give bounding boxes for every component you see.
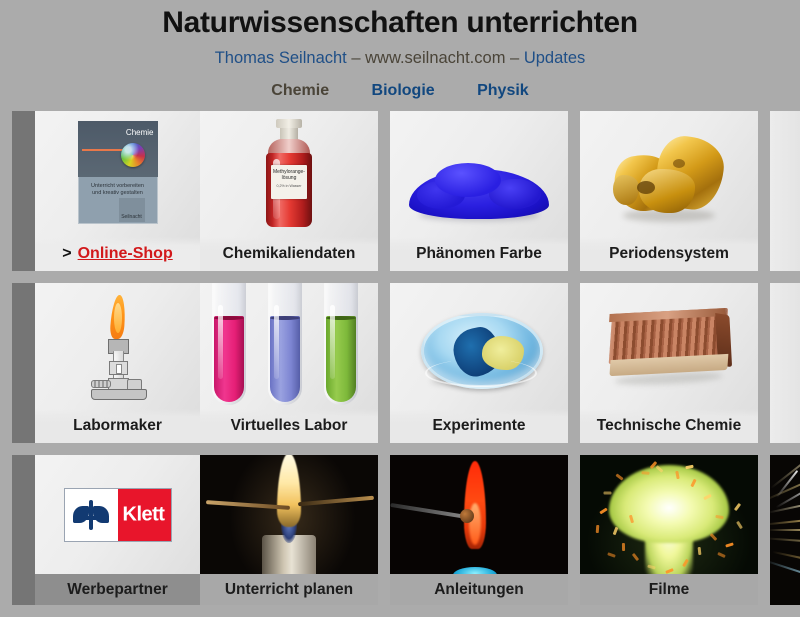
- main-nav: Chemie Biologie Physik: [0, 81, 800, 101]
- test-tube-highlight: [330, 305, 335, 379]
- online-shop-link[interactable]: Online-Shop: [78, 245, 173, 263]
- book-cover-rule: [82, 149, 124, 151]
- row-2-left-edge-strip[interactable]: [12, 283, 35, 443]
- row-3-right-edge-strip[interactable]: [770, 455, 800, 605]
- spark-particle: [641, 471, 649, 475]
- tile-periodensystem[interactable]: Periodensystem: [580, 111, 758, 271]
- row-1-right-edge-strip[interactable]: [770, 111, 800, 271]
- nav-item-chemie[interactable]: Chemie: [271, 82, 329, 99]
- wooden-splint-right: [298, 496, 374, 507]
- klett-wordmark: Klett: [123, 504, 165, 527]
- petri-dish-icon: [421, 313, 537, 391]
- tile-virtuelles-labor[interactable]: Virtuelles Labor: [200, 283, 378, 443]
- tile-grid: Chemie Unterricht vorbereiten und kreati…: [0, 111, 800, 617]
- spark-particle: [615, 473, 623, 480]
- tile-row-3: Klett Werbepartner Unter: [0, 455, 800, 605]
- tile-label[interactable]: Periodensystem: [580, 237, 758, 271]
- spark-particle: [622, 543, 625, 551]
- page-header: Naturwissenschaften unterrichten Thomas …: [0, 0, 800, 101]
- magnesia-rod: [390, 503, 468, 519]
- spark-particle: [656, 465, 664, 473]
- lily-crossbar: [77, 516, 105, 520]
- petri-rim: [425, 359, 537, 387]
- row-2-right-edge-strip[interactable]: [770, 283, 800, 443]
- flame-core: [114, 303, 122, 333]
- light-streak: [770, 529, 800, 531]
- spark-particle: [715, 515, 723, 519]
- tile-label[interactable]: Chemikaliendaten: [200, 237, 378, 271]
- corrugated-copper-icon: [605, 308, 733, 388]
- burner-gas-nozzle: [91, 380, 111, 388]
- book-cover-top: Chemie: [78, 121, 158, 177]
- spark-particle: [682, 559, 689, 567]
- tile-label[interactable]: Labormaker: [35, 409, 200, 443]
- spark-particle: [596, 525, 600, 533]
- tile-werbepartner[interactable]: Klett Werbepartner: [35, 455, 200, 605]
- spark-particle: [607, 552, 616, 558]
- tile-label[interactable]: Phänomen Farbe: [390, 237, 568, 271]
- spark-particle: [613, 527, 619, 536]
- chevron-right-icon: >: [62, 245, 71, 263]
- spark-particle: [698, 547, 702, 555]
- tile-experimente[interactable]: Experimente: [390, 283, 568, 443]
- tile-chemikaliendaten[interactable]: Methylorange- lösung 0,2% in Wasser Chem…: [200, 111, 378, 271]
- lily-stem: [89, 500, 93, 530]
- page-root: Naturwissenschaften unterrichten Thomas …: [0, 0, 800, 600]
- klett-logo: Klett: [65, 489, 171, 541]
- color-sphere-icon: [121, 143, 145, 167]
- book-cover-subtitle: Unterricht vorbereiten und kreativ gesta…: [78, 183, 158, 197]
- spark-particle: [647, 565, 656, 570]
- nav-item-biologie[interactable]: Biologie: [372, 82, 435, 99]
- spark-particle: [710, 533, 718, 541]
- glowing-bead: [460, 509, 474, 523]
- test-tube-highlight: [274, 305, 279, 379]
- lily-right-wing: [93, 506, 109, 523]
- nugget-lobe-4: [613, 175, 639, 205]
- light-streak: [770, 502, 800, 513]
- tile-anleitungen[interactable]: Anleitungen: [390, 455, 568, 605]
- online-shop-label[interactable]: > Online-Shop: [35, 237, 200, 271]
- author-link[interactable]: Thomas Seilnacht: [215, 49, 347, 67]
- tile-labormaker[interactable]: Labormaker: [35, 283, 200, 443]
- spark-particle: [690, 479, 696, 488]
- byline: Thomas Seilnacht – www.seilnacht.com – U…: [0, 47, 800, 69]
- klett-lily-icon: [71, 498, 111, 532]
- flame-core: [469, 503, 481, 545]
- spark-particle: [725, 542, 734, 547]
- tile-online-shop[interactable]: Chemie Unterricht vorbereiten und kreati…: [35, 111, 200, 271]
- book-cover-title: Chemie: [78, 128, 154, 137]
- nugget-hollow-2: [673, 159, 685, 168]
- tile-label[interactable]: Filme: [580, 574, 758, 605]
- bunsen-burner-icon: [75, 295, 161, 399]
- bottle-stopper: [276, 119, 302, 128]
- chemie-book-cover: Chemie Unterricht vorbereiten und kreati…: [78, 121, 158, 224]
- light-streak: [770, 560, 800, 577]
- test-tube-rack: [200, 283, 378, 409]
- gold-nugget-icon: [611, 129, 727, 225]
- light-streaks-scene: [770, 455, 800, 605]
- light-streak: [770, 518, 800, 525]
- tile-label[interactable]: Unterricht planen: [200, 574, 378, 605]
- spark-particle: [604, 492, 612, 495]
- tile-row-1: Chemie Unterricht vorbereiten und kreati…: [0, 111, 800, 271]
- tile-label[interactable]: Anleitungen: [390, 574, 568, 605]
- test-tube-violet: [268, 283, 302, 405]
- byline-separator-2: –: [510, 49, 519, 67]
- byline-separator-1: –: [351, 49, 360, 67]
- tile-phaenomen-farbe[interactable]: Phänomen Farbe: [390, 111, 568, 271]
- spark-particle: [632, 553, 639, 561]
- bottle-label-line-2: lösung: [271, 175, 307, 181]
- spark-particle: [675, 471, 679, 479]
- row-3-left-edge-strip[interactable]: [12, 455, 35, 605]
- test-tube-pink: [212, 283, 246, 405]
- tile-row-2: Labormaker: [0, 283, 800, 443]
- burner-base: [91, 389, 147, 400]
- tile-technische-chemie[interactable]: Technische Chemie: [580, 283, 758, 443]
- spark-particle: [717, 552, 726, 558]
- tile-filme[interactable]: Filme: [580, 455, 758, 605]
- tile-label[interactable]: Virtuelles Labor: [200, 409, 378, 443]
- spark-particle: [703, 494, 711, 500]
- spark-particle: [685, 465, 693, 470]
- book-cover-publisher: Seilnacht: [119, 214, 145, 220]
- book-cover-publisher-box: Seilnacht: [119, 198, 145, 222]
- tile-label[interactable]: Technische Chemie: [580, 409, 758, 443]
- candle-flame: [277, 455, 301, 527]
- bottle-label-line-3: 0,2% in Wasser: [271, 183, 307, 189]
- nav-item-physik[interactable]: Physik: [477, 82, 529, 99]
- row-1-left-edge-strip[interactable]: [12, 111, 35, 271]
- spark-particle: [629, 515, 634, 524]
- burner-air-collar: [109, 361, 128, 375]
- pigment-heap-icon: [409, 163, 549, 225]
- tile-unterricht-planen[interactable]: Unterricht planen: [200, 455, 378, 605]
- test-tube-highlight: [218, 305, 223, 379]
- spark-particle: [734, 503, 741, 511]
- spark-particle: [599, 508, 607, 515]
- tile-label[interactable]: Werbepartner: [35, 574, 200, 605]
- light-streak: [770, 479, 800, 502]
- light-streak: [770, 537, 800, 542]
- tile-label[interactable]: Experimente: [390, 409, 568, 443]
- klett-logo-left-panel: [65, 489, 118, 541]
- klett-logo-right-panel: Klett: [118, 489, 171, 541]
- nugget-hollow-1: [637, 181, 655, 194]
- reagent-bottle-icon: Methylorange- lösung 0,2% in Wasser: [259, 119, 319, 231]
- lily-left-wing: [73, 506, 89, 523]
- website-text: www.seilnacht.com: [365, 49, 505, 67]
- test-tube-green: [324, 283, 358, 405]
- spark-particle: [736, 521, 743, 529]
- bottle-label: Methylorange- lösung 0,2% in Wasser: [271, 165, 307, 199]
- updates-link[interactable]: Updates: [524, 49, 585, 67]
- pigment-lobe-top: [435, 163, 501, 197]
- light-streak: [772, 551, 800, 561]
- page-title: Naturwissenschaften unterrichten: [0, 6, 800, 40]
